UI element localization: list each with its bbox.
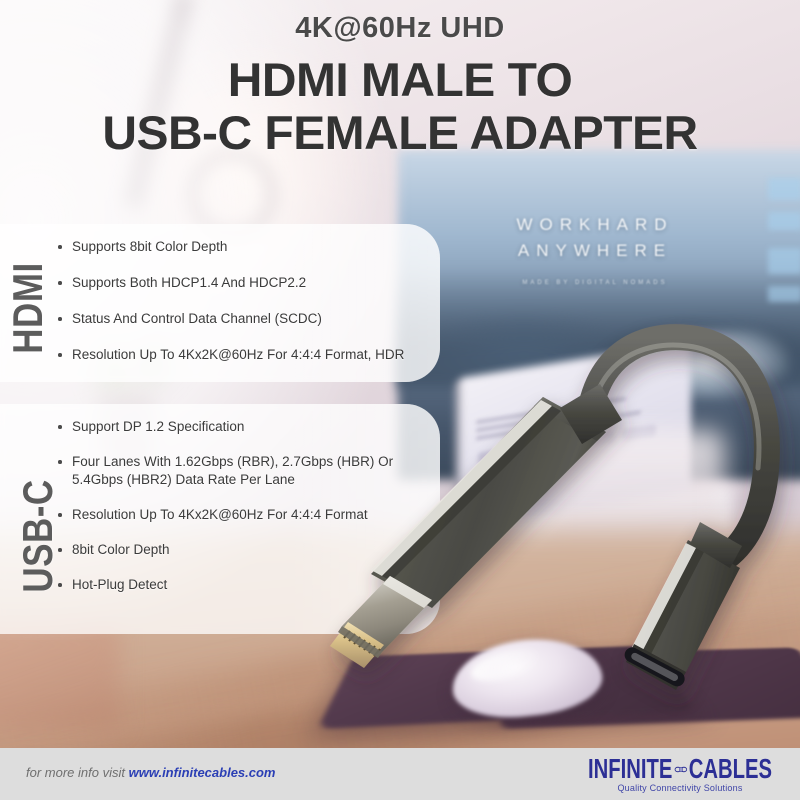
monitor-text-line-2: ANYWHERE [430,238,760,264]
logo-wordmark: INFINITE CABLES [588,756,772,782]
logo-word-infinite: INFINITE [588,753,672,786]
desk-book [0,620,120,730]
cable-knot-icon [674,761,687,778]
footer-info-text: for more info visit www.infinitecables.c… [26,765,276,780]
monitor-widget-4 [768,286,800,302]
list-item: Resolution Up To 4Kx2K@60Hz For 4:4:4 Fo… [56,346,431,364]
product-poster: WORKHARD ANYWHERE MADE BY DIGITAL NOMADS… [0,0,800,800]
monitor-widget-1 [768,178,800,200]
list-item: Hot-Plug Detect [56,576,431,594]
monitor-text-line-1: WORKHARD [430,212,760,238]
dashboard-tile [478,446,518,464]
list-item: Support DP 1.2 Specification [56,418,431,436]
section-label-hdmi: HDMI [5,253,52,363]
eyebrow-text: 4K@60Hz UHD [0,14,800,43]
title-line-2: USB-C FEMALE ADAPTER [0,106,800,159]
logo-tagline: Quality Connectivity Solutions [585,783,775,794]
monitor-subtext: MADE BY DIGITAL NOMADS [430,270,760,296]
footer-prefix: for more info visit [26,765,125,780]
monitor-widget-2 [768,212,800,230]
title-line-1: HDMI MALE TO [0,53,800,106]
list-item: 8bit Color Depth [56,541,431,559]
list-item: Supports 8bit Color Depth [56,238,431,256]
company-logo[interactable]: INFINITE CABLES Quality Connectivity Sol… [580,754,780,798]
list-item: Four Lanes With 1.62Gbps (RBR), 2.7Gbps … [56,453,431,489]
website-url-link[interactable]: www.infinitecables.com [129,765,276,780]
title-block: 4K@60Hz UHD HDMI MALE TO USB-C FEMALE AD… [0,14,800,159]
list-item: Resolution Up To 4Kx2K@60Hz For 4:4:4 Fo… [56,506,431,524]
hdmi-feature-list: Supports 8bit Color Depth Supports Both … [56,238,431,382]
footer-bar: for more info visit www.infinitecables.c… [0,748,800,800]
logo-word-cables: CABLES [689,753,772,786]
monitor-widget-3 [768,248,800,274]
list-item: Status And Control Data Channel (SCDC) [56,310,431,328]
list-item: Supports Both HDCP1.4 And HDCP2.2 [56,274,431,292]
usbc-feature-list: Support DP 1.2 Specification Four Lanes … [56,418,431,611]
monitor-wallpaper-text: WORKHARD ANYWHERE MADE BY DIGITAL NOMADS [430,212,760,296]
